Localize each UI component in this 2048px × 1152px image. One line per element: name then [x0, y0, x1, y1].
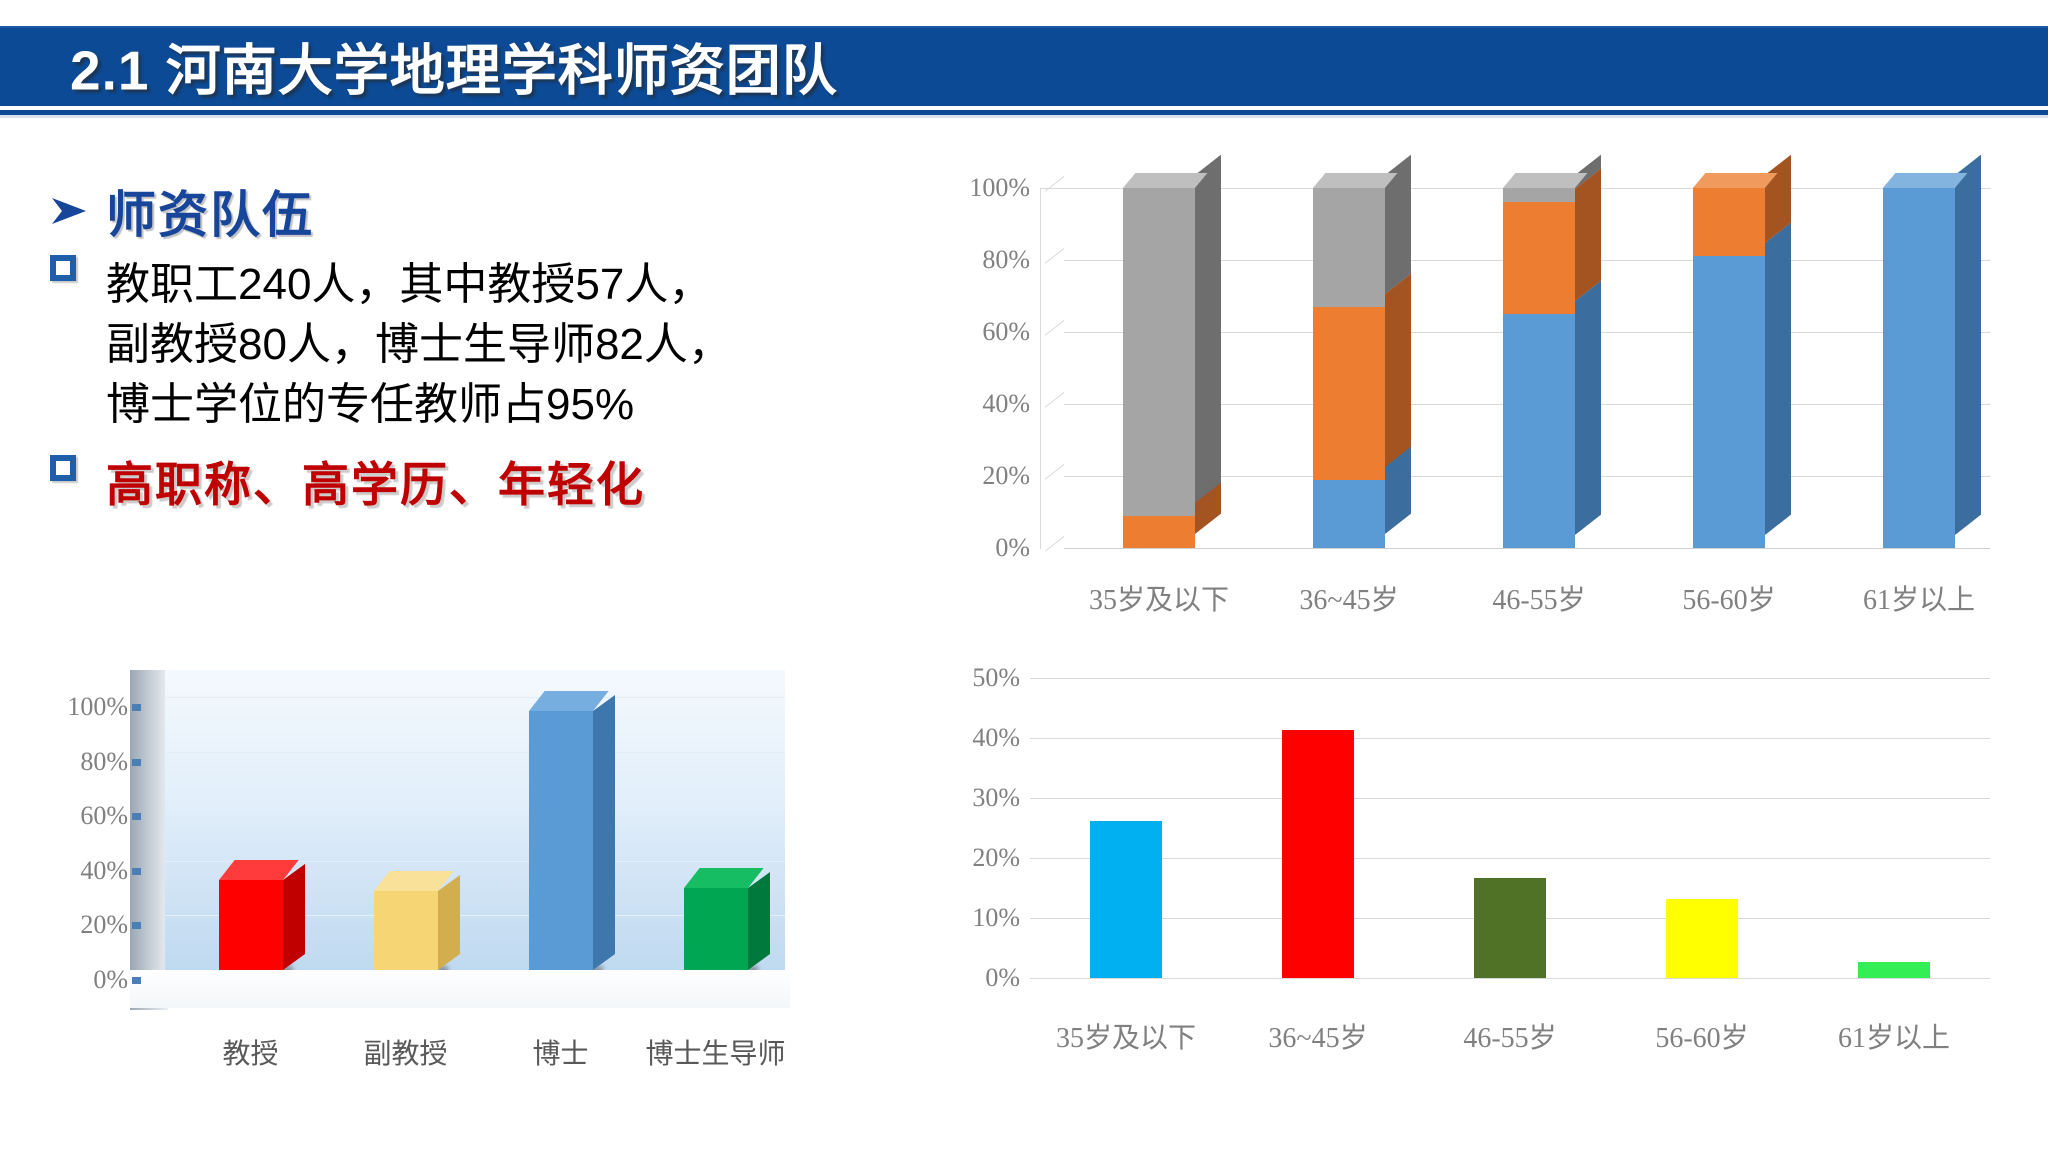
stacked-bar-top-face	[1883, 173, 1967, 188]
stacked-segment-side	[1575, 280, 1601, 534]
y-axis-tick-label: 40%	[910, 723, 1020, 753]
bar-3d	[529, 711, 593, 970]
y-axis-tick-label: 20%	[18, 910, 128, 940]
chart-age-title-composition: 0%20%40%60%80%100%35岁及以下36~45岁46-55岁56-6…	[880, 170, 2030, 630]
y-axis-tick-label: 0%	[18, 965, 128, 995]
y-axis-tick-label: 60%	[910, 317, 1030, 347]
y-axis-tick-label: 50%	[910, 663, 1020, 693]
bar	[1666, 899, 1738, 978]
banner-underline-secondary	[0, 115, 2048, 118]
y-axis-tick-label: 0%	[910, 533, 1030, 563]
bar-3d	[684, 888, 748, 970]
stacked-segment	[1883, 188, 1955, 548]
stacked-bar	[1503, 188, 1575, 548]
section-heading: 师资队伍	[46, 175, 314, 247]
list-item: 高职称、高学历、年轻化	[50, 455, 870, 515]
y-axis-tick-label: 80%	[18, 747, 128, 777]
x-axis-tick-label: 教授	[174, 1032, 328, 1072]
y-axis-tick-label: 100%	[910, 173, 1030, 203]
bar	[1858, 962, 1930, 978]
chart-plot-area	[1040, 188, 1990, 548]
stacked-segment	[1123, 188, 1195, 516]
y-axis-tick-mark	[132, 704, 141, 711]
stacked-segment	[1313, 188, 1385, 307]
y-axis-tick-label: 20%	[910, 461, 1030, 491]
y-axis-tick-label: 100%	[18, 692, 128, 722]
x-axis-tick-label: 博士生导师	[639, 1032, 793, 1072]
y-axis-tick-mark	[132, 977, 141, 984]
stacked-segment	[1693, 188, 1765, 256]
y-axis-tick-label: 30%	[910, 783, 1020, 813]
chart-floor	[130, 970, 790, 1008]
chart-axis-line	[1064, 548, 1990, 549]
bar	[1474, 878, 1546, 978]
stacked-bar-top-face	[1123, 173, 1207, 188]
stacked-segment-side	[1765, 223, 1791, 535]
y-axis-tick-mark	[132, 868, 141, 875]
stacked-segment-side	[1195, 154, 1221, 502]
x-axis-tick-label: 36~45岁	[1227, 1016, 1409, 1056]
x-axis-tick-label: 35岁及以下	[1035, 1016, 1217, 1056]
y-axis-tick-label: 20%	[910, 843, 1020, 873]
x-axis-tick-label: 博士	[484, 1032, 638, 1072]
list-item-label-emphasis: 高职称、高学历、年轻化	[106, 455, 645, 515]
stacked-segment	[1503, 188, 1575, 202]
chart-gridline	[1030, 738, 1990, 739]
bar-side-face	[438, 875, 460, 970]
y-axis-tick-label: 40%	[18, 856, 128, 886]
chart-plot-area	[165, 670, 785, 970]
stacked-bar-top-face	[1313, 173, 1397, 188]
list-item: 教职工240人，其中教授57人， 副教授80人，博士生导师82人， 博士学位的专…	[50, 255, 870, 435]
x-axis-tick-label: 61岁以上	[1803, 1016, 1985, 1056]
stacked-bar-top-face	[1693, 173, 1777, 188]
x-axis-tick-label: 56-60岁	[1611, 1016, 1793, 1056]
x-axis-tick-label: 46-55岁	[1419, 1016, 1601, 1056]
section-heading-label: 师资队伍	[106, 175, 314, 247]
bar-front-face	[374, 891, 438, 970]
bar-side-face	[593, 695, 615, 970]
chart-gridline	[1030, 978, 1990, 979]
bar-3d	[374, 891, 438, 970]
chart-plot-area	[1030, 678, 1990, 978]
stacked-segment	[1313, 307, 1385, 480]
hollow-square-bullet-icon	[50, 255, 76, 281]
y-axis-tick-label: 10%	[910, 903, 1020, 933]
chart-gridline	[165, 697, 785, 698]
bar-front-face	[529, 711, 593, 970]
y-axis-tick-mark	[132, 813, 141, 820]
bar-side-face	[748, 872, 770, 970]
stacked-segment	[1123, 516, 1195, 548]
chart-age-distribution: 0%10%20%30%40%50%35岁及以下36~45岁46-55岁56-60…	[880, 650, 2030, 1100]
stacked-bar-top-face	[1503, 173, 1587, 188]
y-axis-tick-mark	[132, 759, 141, 766]
x-axis-tick-label: 61岁以上	[1848, 578, 1990, 618]
chart-gridline	[1030, 678, 1990, 679]
y-axis-tick-label: 40%	[910, 389, 1030, 419]
stacked-segment	[1313, 480, 1385, 548]
x-axis-tick-label: 副教授	[329, 1032, 483, 1072]
hollow-square-bullet-icon	[50, 455, 76, 481]
page-title: 2.1 河南大学地理学科师资团队	[70, 25, 838, 105]
stacked-bar	[1123, 188, 1195, 548]
chart-gridline	[1030, 858, 1990, 859]
stacked-bar	[1883, 188, 1955, 548]
stacked-bar	[1313, 188, 1385, 548]
x-axis-tick-label: 36~45岁	[1278, 578, 1420, 618]
y-axis-tick-label: 60%	[18, 801, 128, 831]
chart-gridline	[165, 806, 785, 807]
stacked-segment-side	[1955, 154, 1981, 534]
y-axis-tick-mark	[132, 922, 141, 929]
stacked-segment	[1503, 202, 1575, 314]
stacked-bar	[1693, 188, 1765, 548]
y-axis-tick-label: 0%	[910, 963, 1020, 993]
x-axis-tick-label: 56-60岁	[1658, 578, 1800, 618]
x-axis-tick-label: 46-55岁	[1468, 578, 1610, 618]
bar	[1090, 821, 1162, 978]
bar-3d	[219, 880, 283, 970]
x-axis-tick-label: 35岁及以下	[1088, 578, 1230, 618]
arrow-right-bullet-icon	[46, 188, 92, 234]
stacked-segment	[1503, 314, 1575, 548]
chart-title-distribution: 0%20%40%60%80%100%教授副教授博士博士生导师	[40, 640, 870, 1100]
bar-front-face	[684, 888, 748, 970]
chart-left-wall	[130, 670, 168, 1010]
chart-gridline	[165, 752, 785, 753]
bar-side-face	[283, 864, 305, 970]
stacked-segment	[1693, 256, 1765, 548]
chart-gridline	[1030, 798, 1990, 799]
slide-title-banner: 2.1 河南大学地理学科师资团队	[0, 26, 2048, 106]
list-item-label: 教职工240人，其中教授57人， 副教授80人，博士生导师82人， 博士学位的专…	[106, 255, 732, 435]
y-axis-tick-label: 80%	[910, 245, 1030, 275]
stacked-segment-side	[1385, 273, 1411, 466]
bar	[1282, 730, 1354, 978]
stacked-segment-side	[1575, 169, 1601, 301]
left-content-column: 师资队伍 教职工240人，其中教授57人， 副教授80人，博士生导师82人， 博…	[0, 150, 900, 570]
bar-front-face	[219, 880, 283, 970]
